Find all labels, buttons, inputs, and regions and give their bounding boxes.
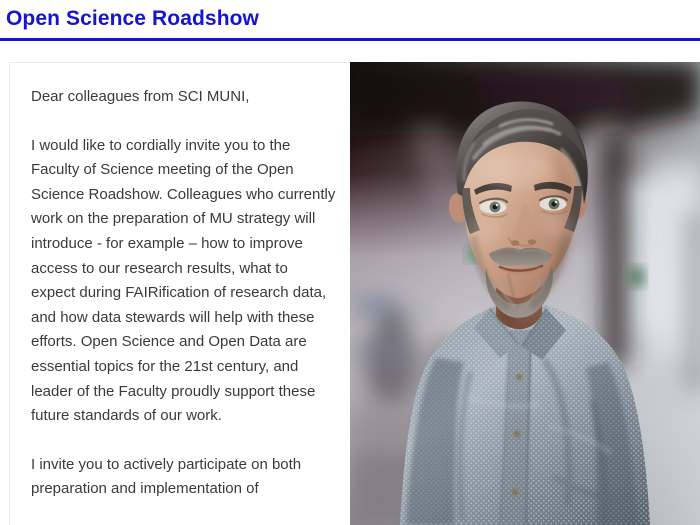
- portrait-photo-stage: [350, 62, 700, 525]
- page-title: Open Science Roadshow: [6, 6, 700, 32]
- letter-panel: Dear colleagues from SCI MUNI, I would l…: [9, 62, 350, 525]
- letter-body: Dear colleagues from SCI MUNI, I would l…: [10, 63, 350, 502]
- letter-salutation: Dear colleagues from SCI MUNI,: [31, 85, 336, 110]
- content-area: Dear colleagues from SCI MUNI, I would l…: [0, 62, 700, 525]
- letter-paragraph-2: I invite you to actively participate on …: [31, 453, 336, 502]
- header-divider: [0, 38, 700, 41]
- letter-paragraph-1: I would like to cordially invite you to …: [31, 134, 336, 429]
- page-header: Open Science Roadshow: [0, 0, 700, 34]
- portrait-photo: [350, 62, 700, 525]
- portrait-photo-image: [350, 62, 700, 525]
